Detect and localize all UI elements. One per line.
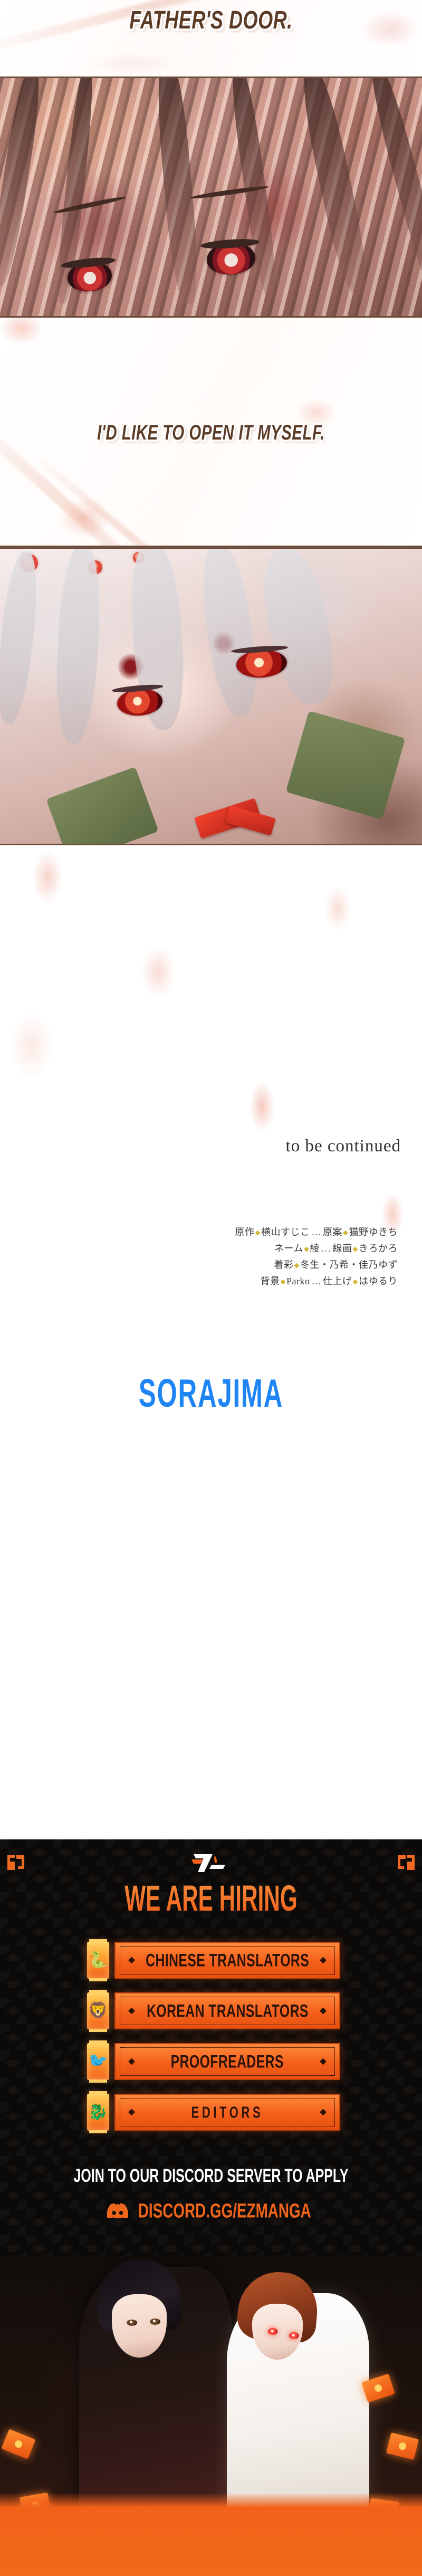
credit-separator: … [320,1243,333,1254]
girl-eye-left [268,2328,277,2335]
diamond-bullet-icon: ◆ [352,1245,359,1253]
job-row-proofreaders[interactable]: 🐦 PROOFREADERS [0,2043,422,2080]
caption-open-it-myself: I'D LIKE TO OPEN IT MYSELF. [11,421,411,445]
job-row-korean-translators[interactable]: 🦁 KOREAN TRANSLATORS [0,1992,422,2029]
caption-fathers-door: FATHER'S DOOR. [11,6,411,35]
hair-strand [195,547,263,719]
credits-line: 原作◆横山すじこ…原案◆猫野ゆきち [235,1224,398,1241]
discord-link[interactable]: DISCORD.GG/EZMANGA [0,2202,422,2221]
credit-separator: … [310,1276,323,1286]
credit-name: Parko [286,1276,310,1286]
credit-role: 背景 [261,1276,280,1286]
job-row-editors[interactable]: 🐉 EDITORS [0,2094,422,2131]
credit-role: 仕上げ [323,1276,352,1286]
credit-role: ネーム [274,1243,303,1254]
collar-right [286,711,406,819]
credit-role: 原作 [235,1227,255,1237]
credits-line: ネーム◆綾…線画◆きろかろ [235,1241,398,1257]
job-label: CHINESE TRANSLATORS [146,1950,309,1971]
outro-section: to be continued 原作◆横山すじこ…原案◆猫野ゆきち ネーム◆綾…… [0,845,422,1459]
discord-url-text[interactable]: DISCORD.GG/EZMANGA [138,2200,311,2224]
hair-strand [153,78,202,305]
join-discord-text: JOIN TO OUR DISCORD SERVER TO APPLY [8,2165,414,2187]
hair-strand [53,547,103,745]
job-row-chinese-translators[interactable]: 🐍 CHINESE TRANSLATORS [0,1942,422,1979]
caption-panel-top: FATHER'S DOOR. [0,0,422,78]
credits-line: 背景◆Parko…仕上げ◆はゆるり [235,1273,398,1290]
credit-role: 線画 [333,1243,352,1254]
credit-name: はゆるり [359,1276,398,1286]
sorajima-logo: SORAJIMA [25,1370,397,1416]
red-envelope [386,2432,419,2460]
hair-strand [254,547,343,710]
job-plate[interactable]: PROOFREADERS [114,2043,340,2080]
credit-role: 着彩 [274,1260,294,1270]
credit-separator: … [310,1227,323,1237]
diamond-bullet-icon: ◆ [255,1228,262,1236]
job-plate[interactable]: EDITORS [114,2094,340,2131]
webtoon-page: FATHER'S DOOR. I'D LIKE TO OPEN IT MYSEL… [0,0,422,2576]
diamond-bullet-icon: ◆ [294,1261,301,1269]
credits-line: 着彩◆冬生・乃希・佳乃ゆず [235,1257,398,1273]
art-panel-boy-portrait [0,547,422,845]
job-openings-list: 🐍 CHINESE TRANSLATORS 🦁 KOREAN TRANSLATO… [0,1942,422,2144]
hair-strand [0,78,45,288]
hiring-banner: WE ARE HIRING 🐍 CHINESE TRANSLATORS 🦁 KO… [0,1839,422,2576]
art-panel-eyes-closeup [0,78,422,318]
lantern-phoenix-icon: 🐦 [87,2043,109,2080]
caption-panel-mid: I'D LIKE TO OPEN IT MYSELF. [0,318,422,547]
we-are-hiring-title: WE ARE HIRING [17,1877,405,1920]
lantern-seahorse-icon: 🐍 [87,1942,109,1979]
girl-eye-right [289,2332,299,2339]
job-plate[interactable]: CHINESE TRANSLATORS [114,1942,340,1979]
to-be-continued-text: to be continued [286,1137,401,1156]
job-plate[interactable]: KOREAN TRANSLATORS [114,1992,340,2029]
job-label: EDITORS [191,2103,264,2122]
credits-block: 原作◆横山すじこ…原案◆猫野ゆきち ネーム◆綾…線画◆きろかろ 着彩◆冬生・乃希… [235,1224,398,1290]
collar-left [46,767,159,845]
lantern-dragon-icon: 🐉 [87,2094,109,2131]
discord-icon [107,2202,128,2221]
job-label: PROOFREADERS [171,2051,284,2073]
job-label: KOREAN TRANSLATORS [147,2000,309,2022]
credit-name: 猫野ゆきち [349,1227,398,1237]
eye-left [66,260,113,293]
credit-name: 横山すじこ [261,1227,310,1237]
hair-strand [296,78,374,298]
lantern-lion-icon: 🦁 [87,1992,109,2029]
credit-role: 原案 [323,1227,342,1237]
man-eye-right [150,2319,160,2325]
bottom-glow-band [0,2493,422,2576]
credit-name: 冬生・乃希・佳乃ゆず [300,1260,398,1270]
hair-strand [0,549,42,726]
promo-character-artwork [0,2256,422,2576]
ez-manga-logo-icon [0,1851,422,1875]
man-eye-left [127,2320,137,2326]
diamond-bullet-icon: ◆ [303,1245,310,1253]
credit-name: 綾 [310,1243,320,1254]
diamond-bullet-icon: ◆ [342,1228,349,1236]
red-envelope [1,2429,35,2459]
credit-name: きろかろ [359,1243,398,1254]
diamond-bullet-icon: ◆ [352,1277,359,1285]
hair-strand [365,78,422,305]
diamond-bullet-icon: ◆ [280,1277,287,1285]
eye-right [206,241,256,276]
